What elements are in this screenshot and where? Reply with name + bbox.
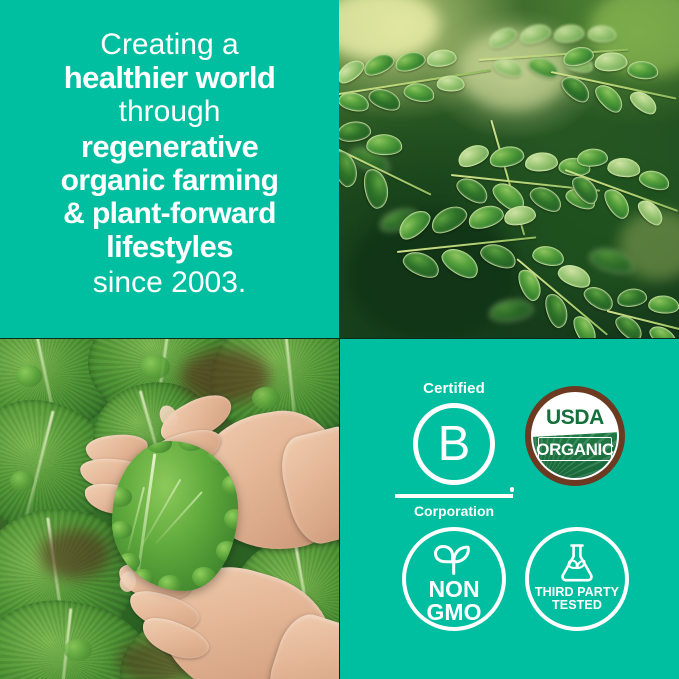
third-party-line-1: THIRD PARTY	[529, 586, 625, 599]
non-gmo-line-2: GMO	[406, 601, 502, 624]
non-gmo-line-1: NON	[406, 578, 502, 601]
usda-badge-inner: USDA ORGANIC	[531, 392, 619, 480]
b-corp-corporation-label: Corporation	[395, 504, 513, 518]
third-party-line-2: TESTED	[529, 599, 625, 612]
usda-organic-label: ORGANIC	[536, 441, 613, 458]
b-corp-letter: B	[418, 408, 490, 480]
headline-text-block: Creating a healthier world through regen…	[0, 28, 339, 299]
hands-holding-kale-photo	[0, 339, 339, 679]
promo-collage: Creating a healthier world through regen…	[0, 0, 679, 679]
b-corp-rule	[395, 494, 513, 498]
flask-icon	[556, 543, 598, 588]
headline-panel: Creating a healthier world through regen…	[0, 0, 339, 338]
headline-line-5: organic farming	[0, 164, 339, 197]
headline-line-2: healthier world	[0, 61, 339, 95]
b-corp-circle-icon: B	[413, 403, 495, 485]
third-party-tested-label: THIRD PARTY TESTED	[529, 586, 625, 612]
sprout-icon	[434, 545, 474, 580]
non-gmo-label: NON GMO	[406, 578, 502, 625]
usda-organic-badge[interactable]: USDA ORGANIC	[525, 386, 625, 486]
headline-line-4: regenerative	[0, 130, 339, 164]
headline-line-6: & plant-forward	[0, 197, 339, 230]
non-gmo-badge[interactable]: NON GMO	[402, 527, 506, 631]
b-corp-certified-badge[interactable]: Certified B Corporation	[395, 381, 513, 518]
headline-line-8: since 2003.	[0, 266, 339, 299]
registered-mark-icon	[510, 487, 515, 492]
certification-badges-panel: Certified B Corporation USDA ORGANIC	[340, 339, 679, 679]
headline-line-7: lifestyles	[0, 230, 339, 264]
held-kale-leaf	[112, 441, 238, 591]
third-party-tested-badge[interactable]: THIRD PARTY TESTED	[525, 527, 629, 631]
headline-line-1: Creating a	[0, 28, 339, 61]
usda-label: USDA	[533, 407, 617, 428]
b-corp-certified-label: Certified	[395, 381, 513, 396]
headline-line-3: through	[0, 95, 339, 128]
moringa-leaves-photo	[339, 0, 679, 338]
usda-organic-box: ORGANIC	[538, 437, 612, 461]
